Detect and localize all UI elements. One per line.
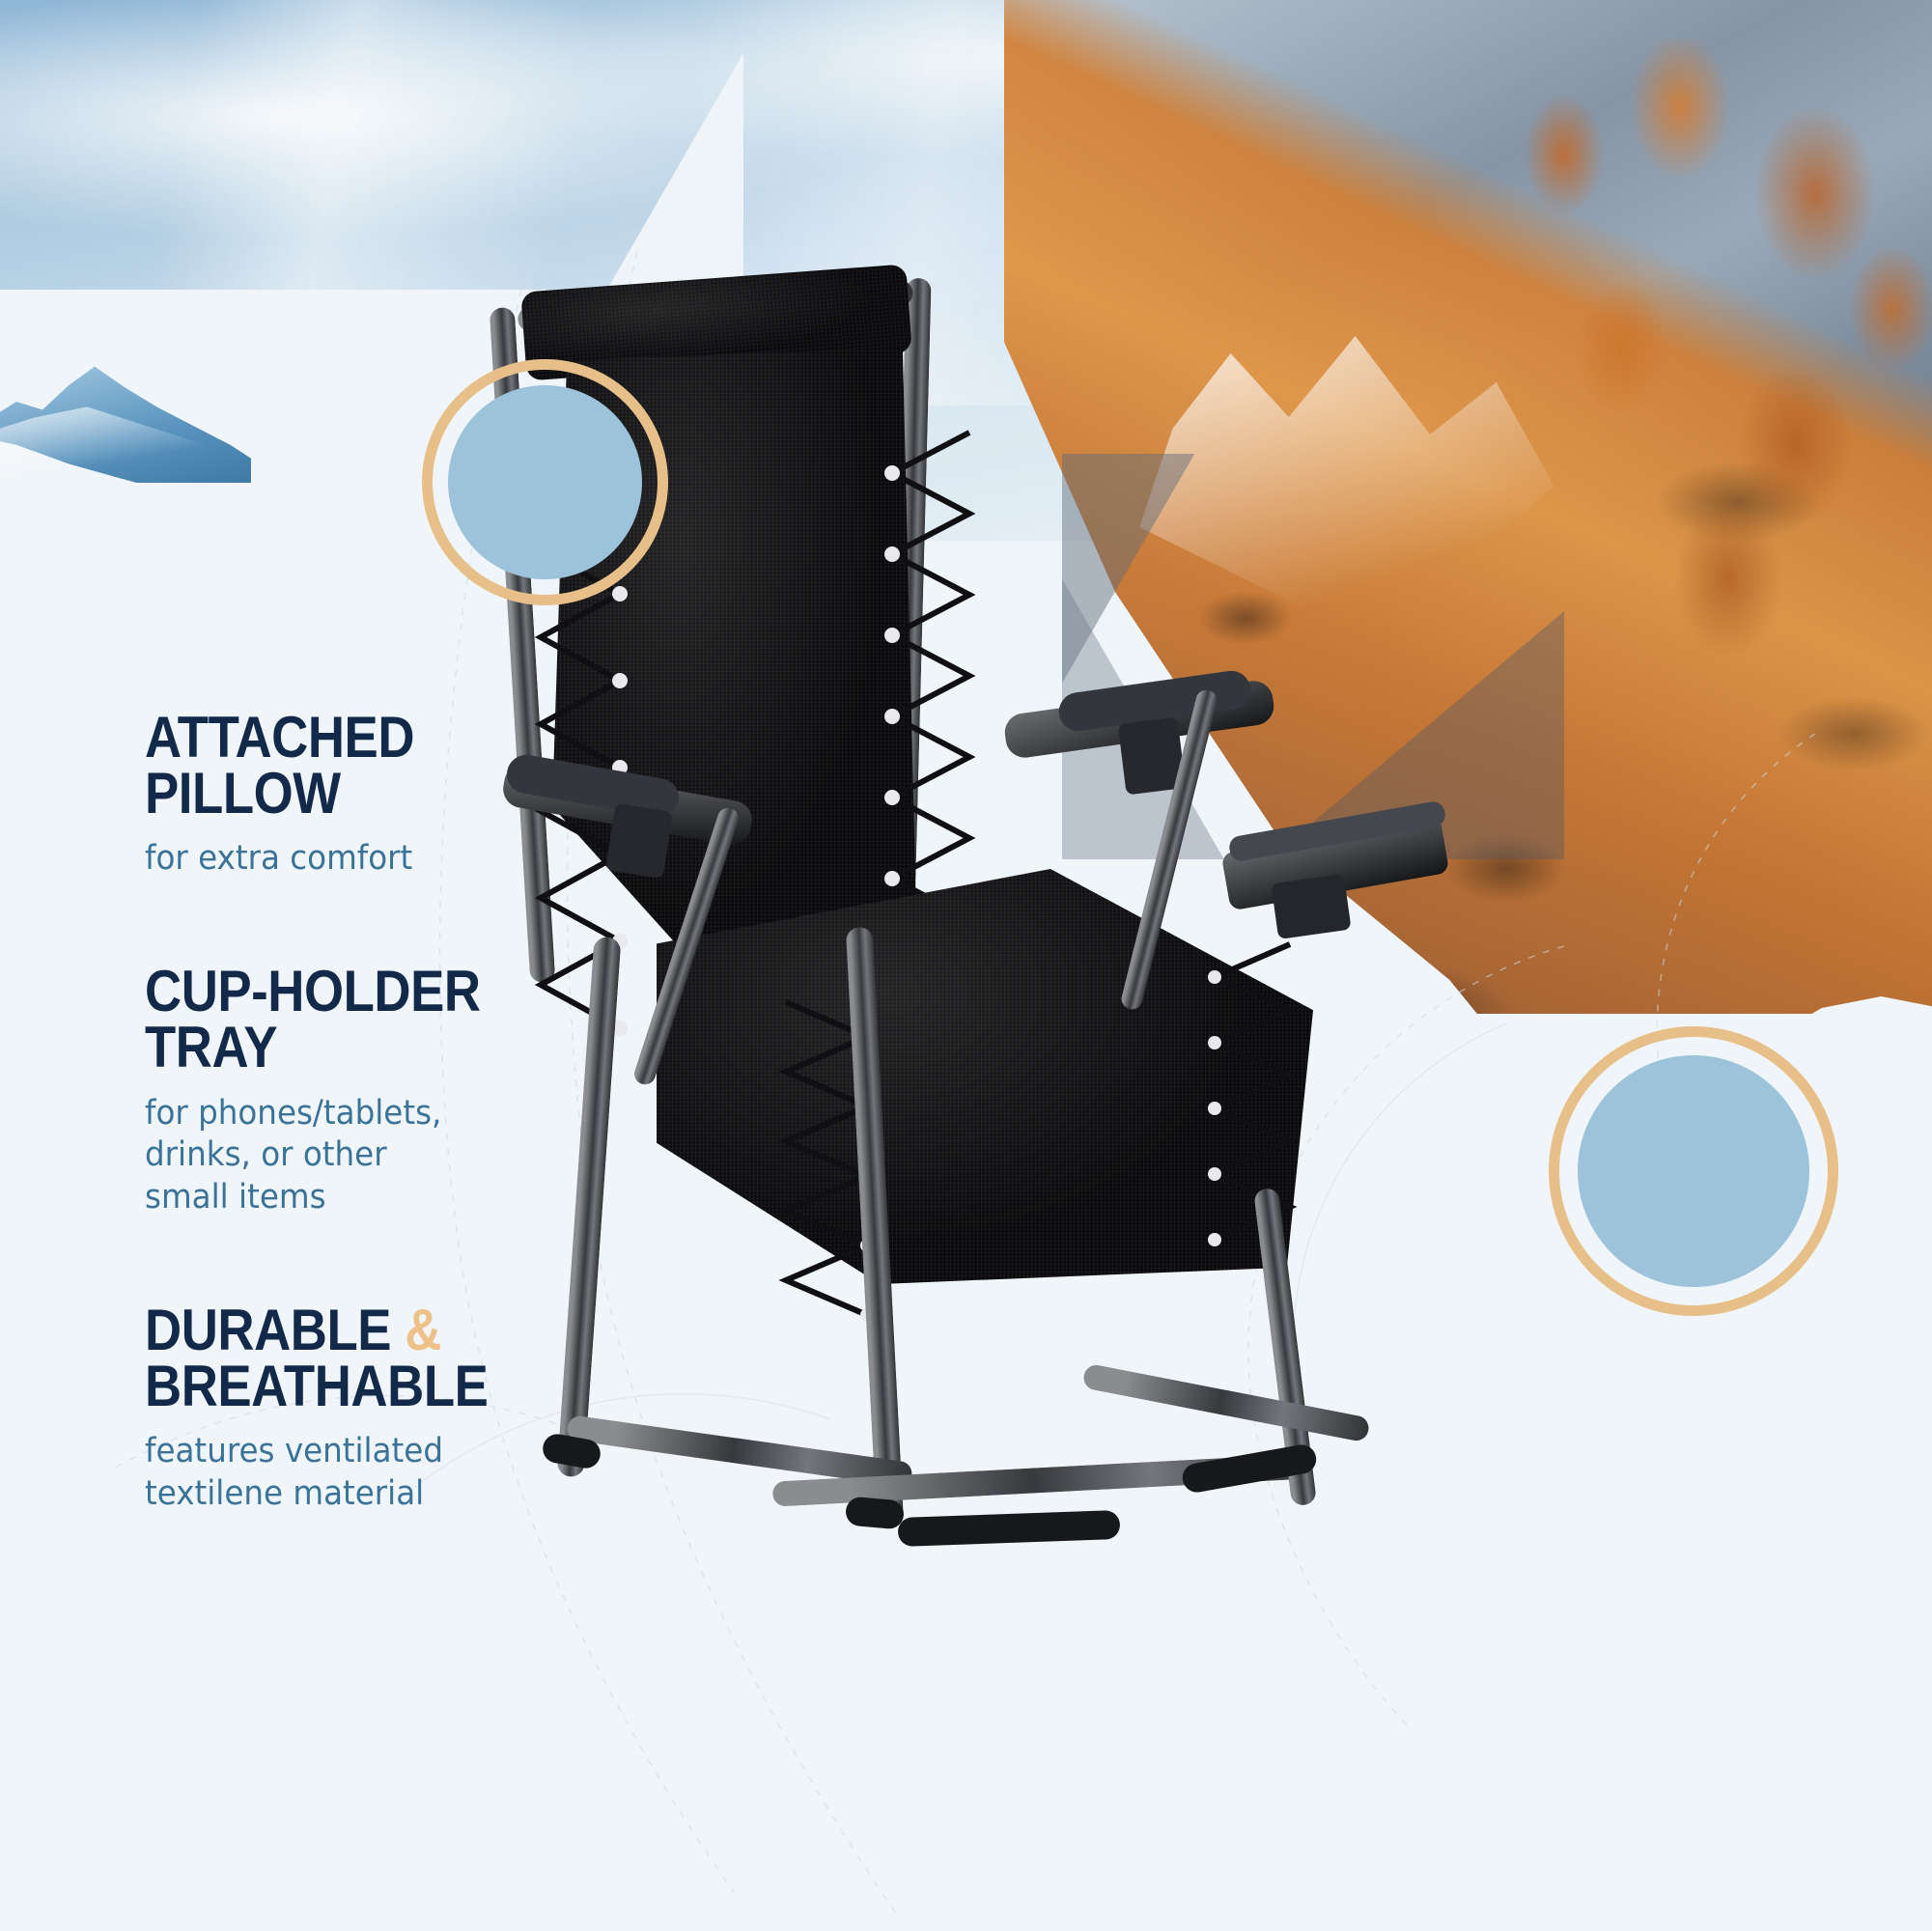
feature-title-attached-pillow: ATTACHED PILLOW	[145, 710, 570, 822]
chair-cup-holder-tray-arm	[1271, 874, 1351, 939]
autumn-larch-trees	[1506, 39, 1932, 772]
feature-title-durable-breathable: DURABLE & BREATHABLE	[145, 1302, 570, 1414]
callout-circle-cup-holder-tray	[1549, 1026, 1838, 1316]
chair-bungee-lacing-right	[869, 425, 985, 965]
callout-ring	[1549, 1026, 1838, 1316]
chair-rear-base-curve	[1081, 1363, 1370, 1443]
feature-list: ATTACHED PILLOW for extra comfort CUP-HO…	[145, 710, 628, 1516]
callout-ring	[422, 359, 668, 605]
feature-subtitle-attached-pillow: for extra comfort	[145, 838, 594, 881]
feature-title-part2: BREATHABLE	[145, 1354, 488, 1418]
feature-cup-holder-tray: CUP-HOLDER TRAY for phones/tablets, drin…	[145, 964, 628, 1219]
chair-foot-rear	[898, 1510, 1121, 1547]
feature-title-part1: DURABLE	[145, 1298, 405, 1362]
feature-durable-breathable: DURABLE & BREATHABLE features ventilated…	[145, 1302, 628, 1516]
callout-circle-attached-pillow	[422, 359, 668, 605]
feature-title-cup-holder-tray: CUP-HOLDER TRAY	[145, 964, 570, 1076]
chair-foot-front-right	[845, 1496, 905, 1529]
ampersand-glyph: &	[405, 1298, 441, 1362]
infographic-canvas: ATTACHED PILLOW for extra comfort CUP-HO…	[0, 0, 1932, 1931]
feature-attached-pillow: ATTACHED PILLOW for extra comfort	[145, 710, 628, 881]
feature-subtitle-durable-breathable: features ventilated textilene material	[145, 1431, 594, 1516]
feature-subtitle-cup-holder-tray: for phones/tablets, drinks, or other sma…	[145, 1093, 594, 1219]
chair-seat-bungee-lacing-right	[1197, 937, 1303, 1265]
